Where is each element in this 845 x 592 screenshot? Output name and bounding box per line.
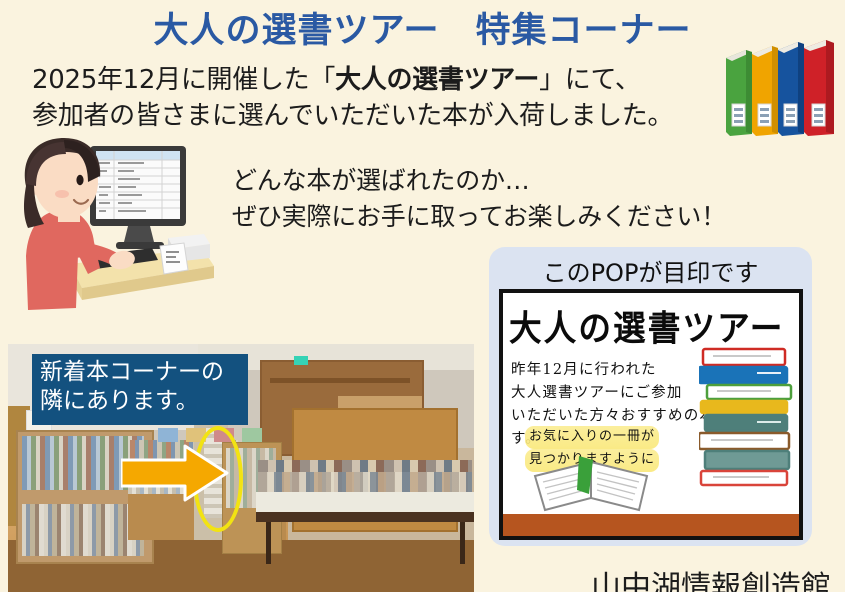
photo-table-leg-right xyxy=(460,522,465,564)
pop-body-line1: 昨年12月に行われた xyxy=(511,359,731,382)
photo-table-leg-left xyxy=(266,522,271,564)
pop-card: 大人の選書ツアー 昨年12月に行われた 大人選書ツアーにご参加 いただいた方々お… xyxy=(499,289,803,540)
intro-paragraph: 2025年12月に開催した「大人の選書ツアー」にて、 参加者の皆さまに選んでいた… xyxy=(32,63,732,135)
pop-body-line2: 大人選書ツアーにご参加 xyxy=(511,382,731,405)
page-title: 大人の選書ツアー 特集コーナー xyxy=(0,2,845,53)
book-stack-illustration xyxy=(699,347,795,497)
photo-left-books-lower xyxy=(22,504,144,556)
book-stack-svg xyxy=(699,347,795,497)
standing-books-illustration xyxy=(722,28,840,140)
photo-wall-art-1 xyxy=(158,428,178,442)
mid-copy-line1: どんな本が選ばれたのか… xyxy=(232,163,802,199)
photo-door-rail xyxy=(270,378,410,383)
intro-line1-emphasis: 大人の選書ツアー xyxy=(335,65,539,95)
mid-copy: どんな本が選ばれたのか… ぜひ実際にお手に取ってお楽しみください！ xyxy=(232,163,802,236)
photo-callout-line2: 隣にあります。 xyxy=(40,387,248,416)
standing-books-svg xyxy=(722,28,840,140)
pop-card-title: 大人の選書ツアー xyxy=(509,301,801,352)
pop-card-floor-band xyxy=(503,514,799,536)
pointer-arrow-icon xyxy=(121,444,229,502)
footer-organization: 山中湖情報創造館 xyxy=(0,562,845,592)
photo-display-table-top xyxy=(256,492,474,514)
intro-line2: 参加者の皆さまに選んでいただいた本が入荷しました。 xyxy=(32,101,673,131)
mid-copy-line2: ぜひ実際にお手に取ってお楽しみください！ xyxy=(232,199,802,235)
open-book-svg xyxy=(531,450,653,516)
photo-exit-sign xyxy=(294,356,308,365)
pop-panel-heading: このPOPが目印です xyxy=(489,253,812,288)
arrow-svg xyxy=(121,444,229,502)
photo-callout-line1: 新着本コーナーの xyxy=(40,358,248,387)
open-book-illustration xyxy=(531,450,653,516)
photo-display-table-edge xyxy=(256,512,474,522)
woman-at-computer-svg xyxy=(18,138,228,323)
pop-wish-line1: お気に入りの一冊が xyxy=(525,426,659,449)
intro-line1-prefix: 2025年12月に開催した「 xyxy=(32,65,335,95)
library-new-arrivals-photo: 新 着 図 書 新着本コーナ xyxy=(8,344,474,592)
pop-panel: このPOPが目印です 大人の選書ツアー 昨年12月に行われた 大人選書ツアーにご… xyxy=(489,247,812,546)
woman-at-computer-illustration xyxy=(18,138,228,323)
intro-line1-suffix: 」にて、 xyxy=(539,65,641,95)
photo-callout: 新着本コーナーの 隣にあります。 xyxy=(32,354,248,425)
poster-canvas: 大人の選書ツアー 特集コーナー xyxy=(0,0,845,592)
photo-wall-art-4 xyxy=(242,428,262,442)
